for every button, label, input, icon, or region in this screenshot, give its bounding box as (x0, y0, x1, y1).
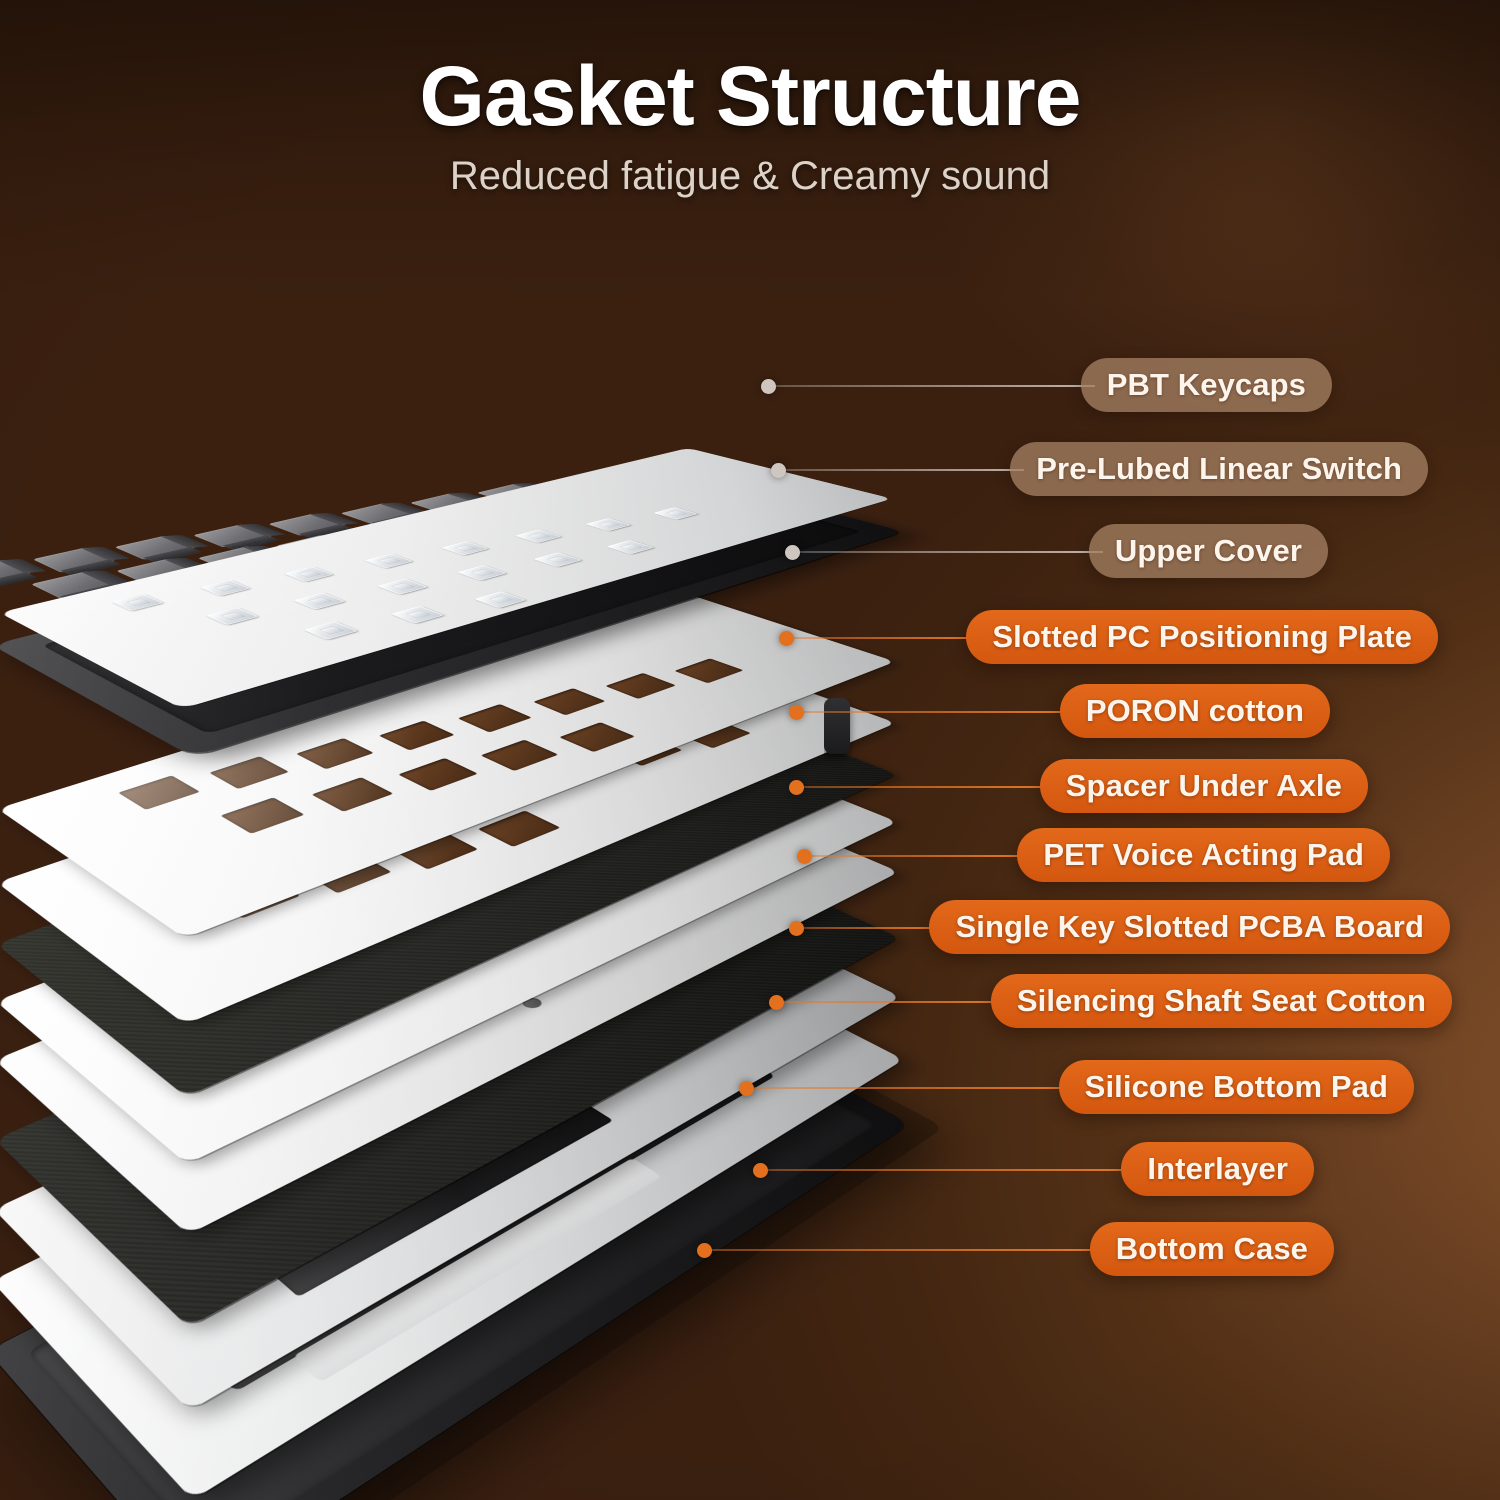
callout-anchor-dot-silicone-bottom-pad (739, 1081, 754, 1096)
callout-label: PET Voice Acting Pad (1043, 837, 1364, 873)
callout-anchor-dot-pre-lubed-linear-switch (771, 463, 786, 478)
callout-anchor-dot-pet-voice-acting-pad (797, 849, 812, 864)
callout-anchor-dot-single-key-slotted-pcba-board (789, 921, 804, 936)
callout-anchor-dot-slotted-pc-positioning-plate (779, 631, 794, 646)
callout-label: PBT Keycaps (1107, 367, 1306, 403)
callout-pill-pbt-keycaps[interactable]: PBT Keycaps (1081, 358, 1332, 412)
callout-leader-line-pet-voice-acting-pad (808, 855, 1031, 857)
keycap-legend: End (378, 519, 403, 526)
callout-leader-line-spacer-under-axle (800, 786, 1054, 788)
callout-leader-line-poron-cotton (800, 711, 1074, 713)
keycap-legend: PgDn (516, 497, 545, 505)
callout-pill-single-key-slotted-pcba-board[interactable]: Single Key Slotted PCBA Board (929, 900, 1450, 954)
callout-label: Silicone Bottom Pad (1085, 1069, 1388, 1105)
callout-anchor-dot-pbt-keycaps (761, 379, 776, 394)
callout-anchor-dot-poron-cotton (789, 705, 804, 720)
callout-leader-line-silicone-bottom-pad (750, 1087, 1073, 1089)
callout-pill-spacer-under-axle[interactable]: Spacer Under Axle (1040, 759, 1368, 813)
keyboard-foot-post (824, 698, 850, 754)
callout-pill-poron-cotton[interactable]: PORON cotton (1060, 684, 1330, 738)
callout-pill-silencing-shaft-seat-cotton[interactable]: Silencing Shaft Seat Cotton (991, 974, 1452, 1028)
callout-label: PORON cotton (1086, 693, 1304, 729)
callout-leader-line-upper-cover (796, 551, 1103, 553)
header: Gasket Structure Reduced fatigue & Cream… (0, 0, 1500, 199)
callout-pill-pre-lubed-linear-switch[interactable]: Pre-Lubed Linear Switch (1010, 442, 1428, 496)
callout-label: Upper Cover (1115, 533, 1302, 569)
callout-pill-pet-voice-acting-pad[interactable]: PET Voice Acting Pad (1017, 828, 1390, 882)
callout-anchor-dot-interlayer (753, 1163, 768, 1178)
callout-pill-silicone-bottom-pad[interactable]: Silicone Bottom Pad (1059, 1060, 1414, 1114)
callout-label: Spacer Under Axle (1066, 768, 1342, 804)
callout-anchor-dot-silencing-shaft-seat-cotton (769, 995, 784, 1010)
infographic-canvas: Gasket Structure Reduced fatigue & Cream… (0, 0, 1500, 1500)
callout-label: Interlayer (1147, 1151, 1288, 1187)
callout-label: Bottom Case (1116, 1231, 1308, 1267)
page-title: Gasket Structure (0, 52, 1500, 140)
callout-label: Single Key Slotted PCBA Board (955, 909, 1424, 945)
callout-anchor-dot-spacer-under-axle (789, 780, 804, 795)
callout-pill-bottom-case[interactable]: Bottom Case (1090, 1222, 1334, 1276)
callout-anchor-dot-upper-cover (785, 545, 800, 560)
page-subtitle: Reduced fatigue & Creamy sound (0, 154, 1500, 199)
callout-leader-line-bottom-case (708, 1249, 1104, 1251)
callout-pill-upper-cover[interactable]: Upper Cover (1089, 524, 1328, 578)
callout-leader-line-single-key-slotted-pcba-board (800, 927, 943, 929)
callout-label: Slotted PC Positioning Plate (992, 619, 1412, 655)
callout-anchor-dot-bottom-case (697, 1243, 712, 1258)
callout-leader-line-pre-lubed-linear-switch (782, 469, 1024, 471)
callout-pill-interlayer[interactable]: Interlayer (1121, 1142, 1314, 1196)
callout-leader-line-slotted-pc-positioning-plate (790, 637, 980, 639)
callout-leader-line-silencing-shaft-seat-cotton (780, 1001, 1005, 1003)
callout-label: Silencing Shaft Seat Cotton (1017, 983, 1426, 1019)
exploded-keyboard-diagram: Ctrl Delete End PgDn Insert Home PgUp F1… (0, 150, 1180, 1500)
callout-pill-slotted-pc-positioning-plate[interactable]: Slotted PC Positioning Plate (966, 610, 1438, 664)
callout-leader-line-pbt-keycaps (772, 385, 1095, 387)
keycap-legend: PgUp (463, 528, 494, 537)
keycap-legend: Delete (230, 539, 267, 549)
callout-leader-line-interlayer (764, 1169, 1135, 1171)
callout-label: Pre-Lubed Linear Switch (1036, 451, 1402, 487)
